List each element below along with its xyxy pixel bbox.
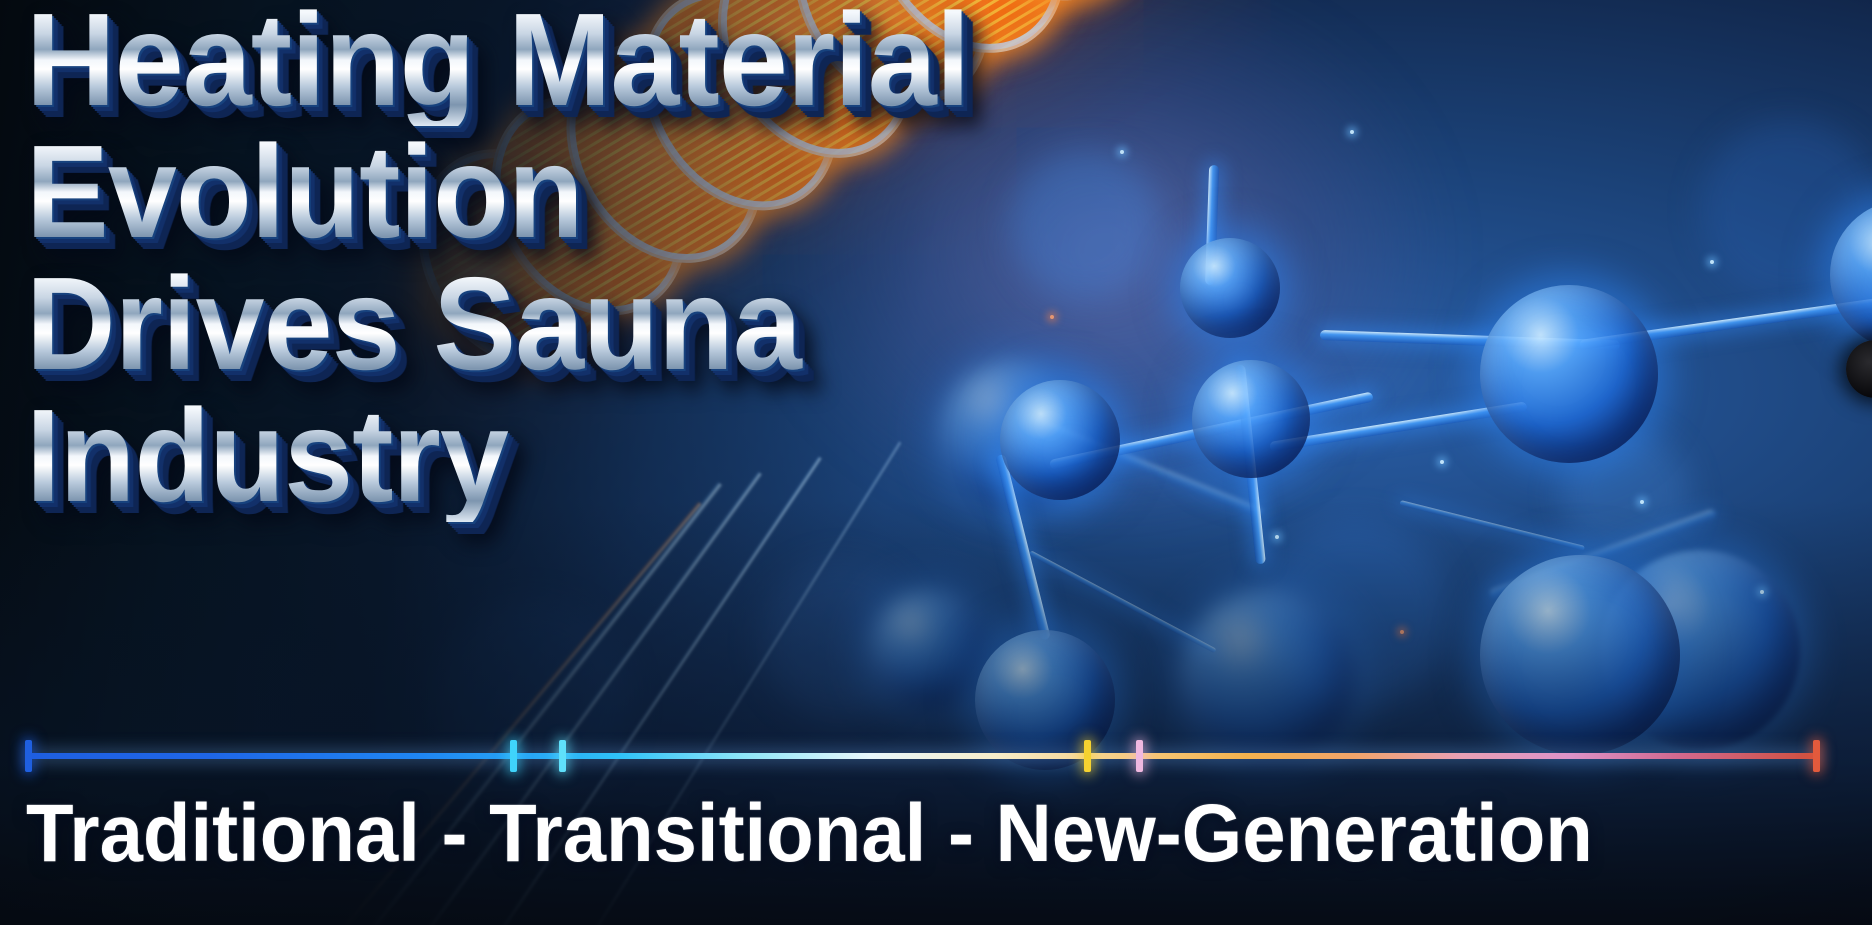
headline-line-3: Drives Sauna: [26, 258, 1060, 390]
page-title: Heating Material Evolution Drives Sauna …: [26, 0, 1126, 522]
headline-line-4: Industry: [26, 390, 1060, 522]
tick-start-traditional: [25, 740, 32, 772]
timeline-caption: Traditional - Transitional - New-Generat…: [26, 790, 1765, 878]
tick-new-generation-start: [1136, 740, 1143, 772]
tick-end-new-generation: [1813, 740, 1820, 772]
material-evolution-timeline: Traditional - Transitional - New-Generat…: [0, 740, 1872, 792]
headline-line-1: Heating Material: [26, 0, 1060, 126]
headline-line-2: Evolution: [26, 126, 1060, 258]
tick-traditional-end: [510, 740, 517, 772]
timeline-rail: [28, 753, 1820, 759]
tick-transitional-end: [1084, 740, 1091, 772]
hero-banner: Heating Material Evolution Drives Sauna …: [0, 0, 1872, 925]
tick-transitional-start: [559, 740, 566, 772]
